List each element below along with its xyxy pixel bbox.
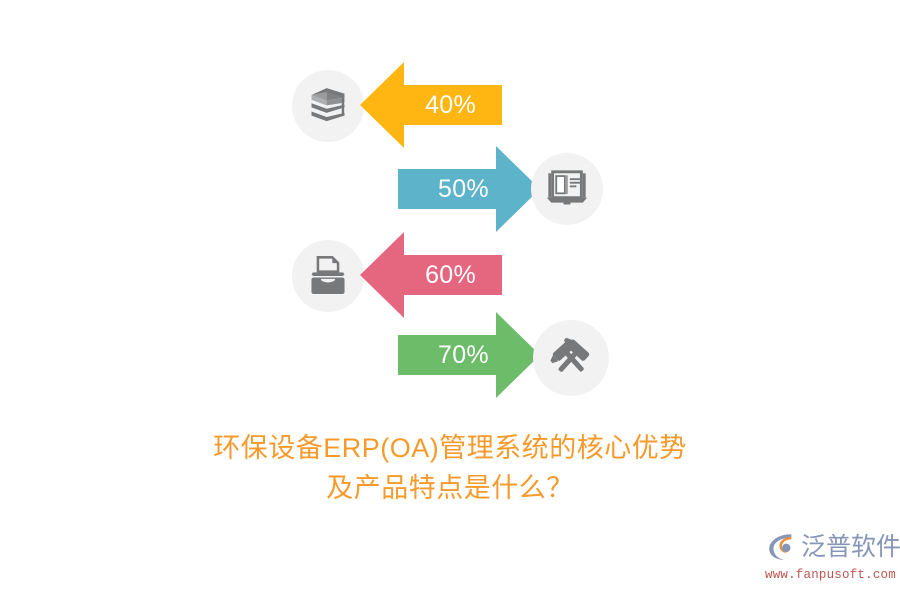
book-stack-icon [306,84,350,128]
brand-watermark-top: 泛普软件 [765,528,893,566]
fanpu-logo-icon [765,530,799,564]
icon-bubble-book-stack [292,70,364,142]
infographic-canvas: 40% 50% [0,0,900,600]
open-book-icon [544,166,590,212]
arrow-label-70: 70% [438,312,489,398]
arrow-row-70: 70% [398,312,540,398]
arrow-row-50: 50% [398,146,540,232]
brand-url: www.fanpusoft.com [765,569,893,582]
arrow-label-60: 60% [425,232,476,318]
icon-bubble-open-book [531,153,603,225]
icon-bubble-crossed-hammers [533,320,609,396]
crossed-hammers-icon [546,333,596,383]
arrow-row-60: 60% [360,232,502,318]
icon-bubble-typewriter [292,240,364,312]
page-title-line-1: 环保设备ERP(OA)管理系统的核心优势 [0,428,900,468]
page-title-line-2: 及产品特点是什么？ [0,468,900,508]
arrow-row-40: 40% [360,62,502,148]
brand-watermark: 泛普软件 www.fanpusoft.com [765,528,893,590]
page-title: 环保设备ERP(OA)管理系统的核心优势 及产品特点是什么？ [0,428,900,508]
typewriter-icon [305,253,351,299]
arrow-label-50: 50% [438,146,489,232]
brand-wordmark: 泛普软件 [801,535,900,560]
arrow-label-40: 40% [425,62,476,148]
